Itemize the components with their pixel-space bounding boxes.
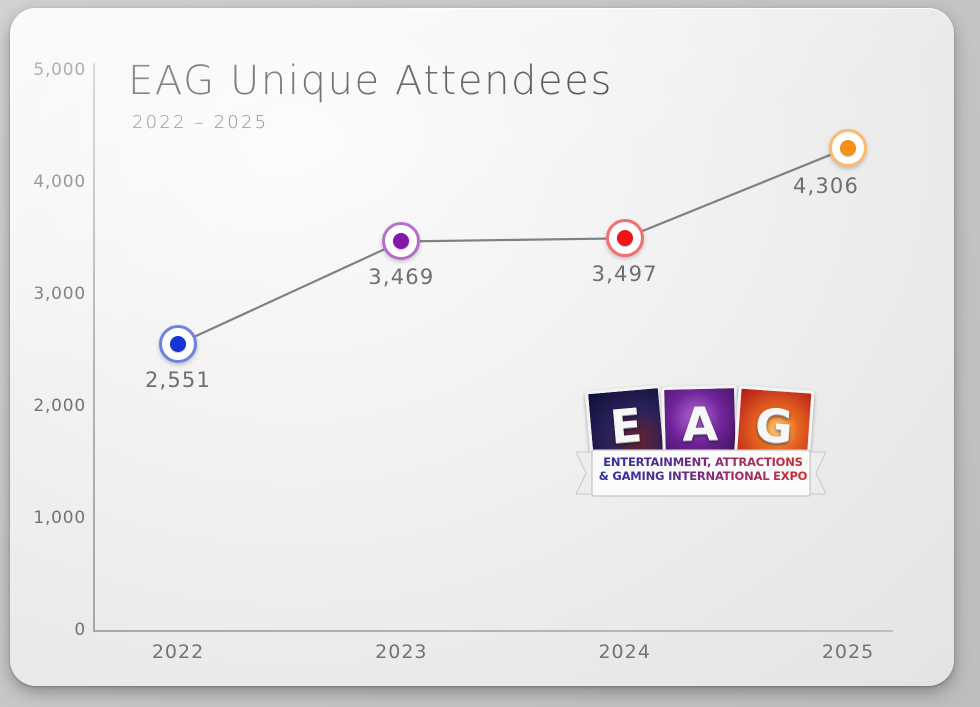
page-background: EAG Unique Attendees 2022 – 2025 01,0002… (0, 0, 980, 707)
logo-ribbon-text: ENTERTAINMENT, ATTRACTIONS & GAMING INTE… (596, 456, 810, 483)
data-point-2025[interactable] (829, 129, 867, 167)
series-line (10, 8, 954, 686)
data-label-2024: 3,497 (550, 262, 700, 286)
data-label-2023: 3,469 (326, 265, 476, 289)
ribbon-line-2: & GAMING INTERNATIONAL EXPO (596, 470, 810, 484)
data-point-2023[interactable] (382, 222, 420, 260)
marker-ring-icon (159, 325, 197, 363)
plot-area: EAG Unique Attendees 2022 – 2025 01,0002… (10, 8, 954, 686)
eag-logo: E A G ENTERTAINMENT, ATTRACTIONS (576, 386, 826, 506)
logo-letter-e: E (608, 402, 643, 451)
data-label-2025: 4,306 (751, 174, 901, 198)
data-label-2022: 2,551 (103, 368, 253, 392)
logo-letter-a: A (682, 401, 719, 448)
marker-ring-icon (382, 222, 420, 260)
data-point-2022[interactable] (159, 325, 197, 363)
ribbon-line-1: ENTERTAINMENT, ATTRACTIONS (596, 456, 810, 470)
marker-ring-icon (829, 129, 867, 167)
marker-ring-icon (606, 219, 644, 257)
logo-ribbon: ENTERTAINMENT, ATTRACTIONS & GAMING INTE… (576, 448, 826, 498)
chart-card: EAG Unique Attendees 2022 – 2025 01,0002… (10, 8, 954, 686)
logo-letter-g: G (754, 402, 795, 451)
data-point-2024[interactable] (606, 219, 644, 257)
